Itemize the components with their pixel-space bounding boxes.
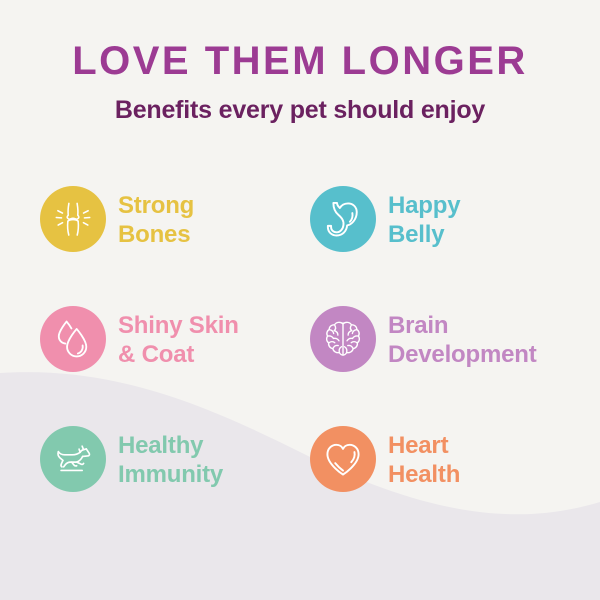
water-droplets-icon [51, 317, 95, 361]
poster-header: LOVE THEM LONGER Benefits every pet shou… [0, 38, 600, 126]
benefit-item-healthy-immunity: Healthy Immunity [40, 426, 223, 492]
page-subtitle: Benefits every pet should enjoy [0, 94, 600, 126]
infographic-poster: LOVE THEM LONGER Benefits every pet shou… [0, 0, 600, 600]
benefit-item-shiny-skin-coat: Shiny Skin & Coat [40, 306, 239, 372]
benefit-grid: Strong Bones Happy Belly [40, 186, 600, 546]
benefit-item-strong-bones: Strong Bones [40, 186, 194, 252]
benefit-item-happy-belly: Happy Belly [310, 186, 460, 252]
heart-icon [321, 437, 365, 481]
benefit-icon-badge [40, 306, 106, 372]
benefit-row: Shiny Skin & Coat [40, 306, 600, 426]
benefit-row: Healthy Immunity Heart Health [40, 426, 600, 546]
running-dog-icon [51, 437, 95, 481]
benefit-icon-badge [310, 426, 376, 492]
benefit-label: Shiny Skin & Coat [118, 311, 239, 369]
benefit-icon-badge [310, 186, 376, 252]
benefit-icon-badge [40, 186, 106, 252]
benefit-label: Heart Health [388, 431, 460, 489]
brain-icon [321, 317, 365, 361]
benefit-icon-badge [40, 426, 106, 492]
benefit-label: Brain Development [388, 311, 537, 369]
bone-joint-icon [51, 197, 95, 241]
benefit-label: Healthy Immunity [118, 431, 223, 489]
benefit-item-brain-development: Brain Development [310, 306, 537, 372]
benefit-label: Strong Bones [118, 191, 194, 249]
stomach-icon [321, 197, 365, 241]
benefit-row: Strong Bones Happy Belly [40, 186, 600, 306]
page-title: LOVE THEM LONGER [0, 38, 600, 84]
benefit-icon-badge [310, 306, 376, 372]
benefit-item-heart-health: Heart Health [310, 426, 460, 492]
benefit-label: Happy Belly [388, 191, 460, 249]
